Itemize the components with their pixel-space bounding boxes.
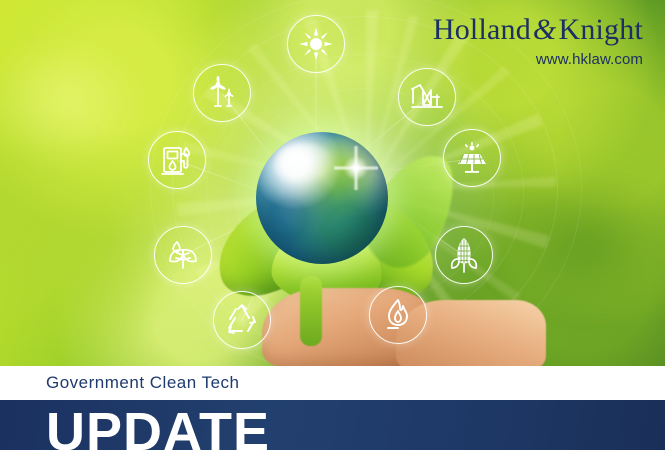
practice-band: Government Clean Tech [0, 366, 665, 400]
solar-panel-icon [443, 129, 501, 187]
brand-name-part1: Holland [433, 13, 531, 46]
brand-lockup: Holland&Knight www.hklaw.com [433, 14, 643, 68]
leaf-drop-icon [154, 226, 212, 284]
earth-globe [256, 132, 388, 264]
corn-icon [435, 226, 493, 284]
brand-ampersand: & [531, 13, 559, 46]
globe-sparkle [334, 146, 378, 190]
sun-icon [287, 15, 345, 73]
brand-name: Holland&Knight [433, 14, 643, 45]
recycle-icon [213, 291, 271, 349]
page-title: UPDATE [46, 405, 270, 450]
email-header-banner: Holland&Knight www.hklaw.com Government … [0, 0, 665, 450]
globe-highlight [274, 143, 335, 188]
wind-turbine-icon [193, 64, 251, 122]
brand-name-part2: Knight [558, 13, 643, 46]
title-band: UPDATE [0, 400, 665, 450]
oil-pumpjack-icon [398, 68, 456, 126]
practice-label: Government Clean Tech [46, 373, 240, 393]
fuel-pump-icon [148, 131, 206, 189]
flame-icon [369, 286, 427, 344]
brand-website-url[interactable]: www.hklaw.com [433, 51, 643, 68]
stem [300, 276, 322, 346]
